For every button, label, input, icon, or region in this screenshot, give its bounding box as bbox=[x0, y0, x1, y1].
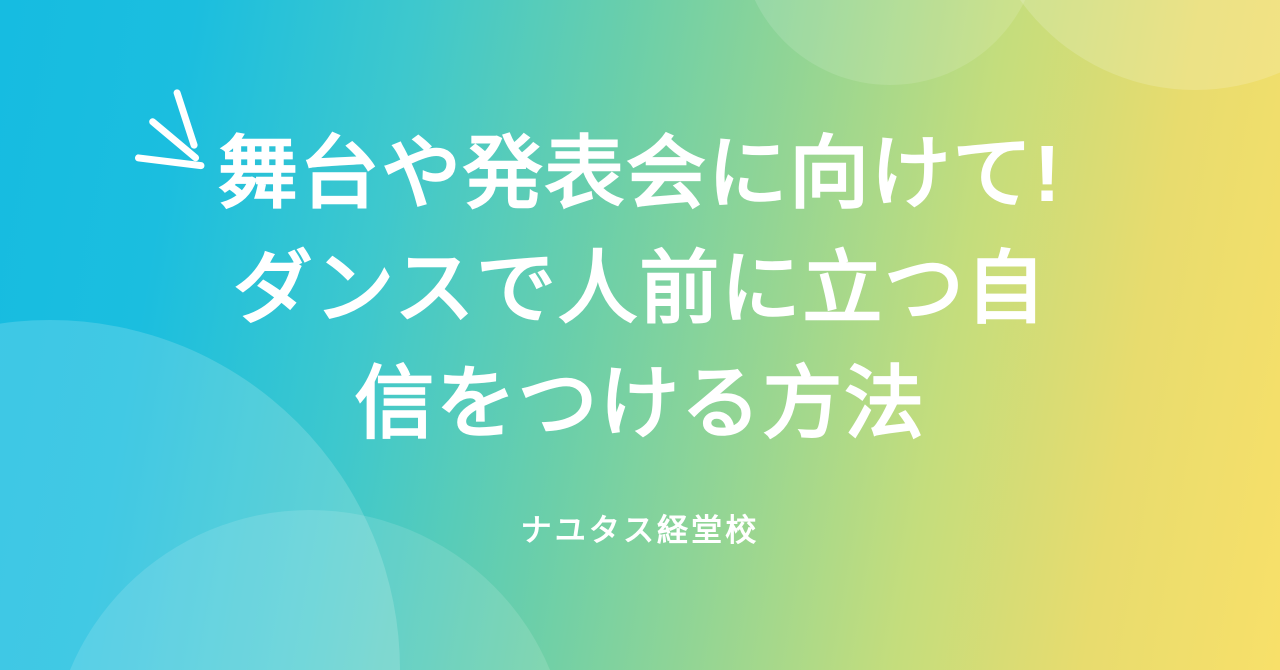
page-subtitle: ナユタス経堂校 bbox=[521, 505, 760, 550]
page-title-line-2: ダンスで人前に立つ自 bbox=[218, 231, 1062, 346]
page-title-line-1: 舞台や発表会に向けて! bbox=[218, 116, 1062, 231]
article-eyecatch-banner: 舞台や発表会に向けて! ダンスで人前に立つ自 信をつける方法 ナユタス経堂校 bbox=[0, 0, 1280, 670]
banner-content: 舞台や発表会に向けて! ダンスで人前に立つ自 信をつける方法 ナユタス経堂校 bbox=[0, 0, 1280, 670]
page-title-line-3: 信をつける方法 bbox=[218, 346, 1062, 461]
page-title: 舞台や発表会に向けて! ダンスで人前に立つ自 信をつける方法 bbox=[218, 116, 1062, 462]
